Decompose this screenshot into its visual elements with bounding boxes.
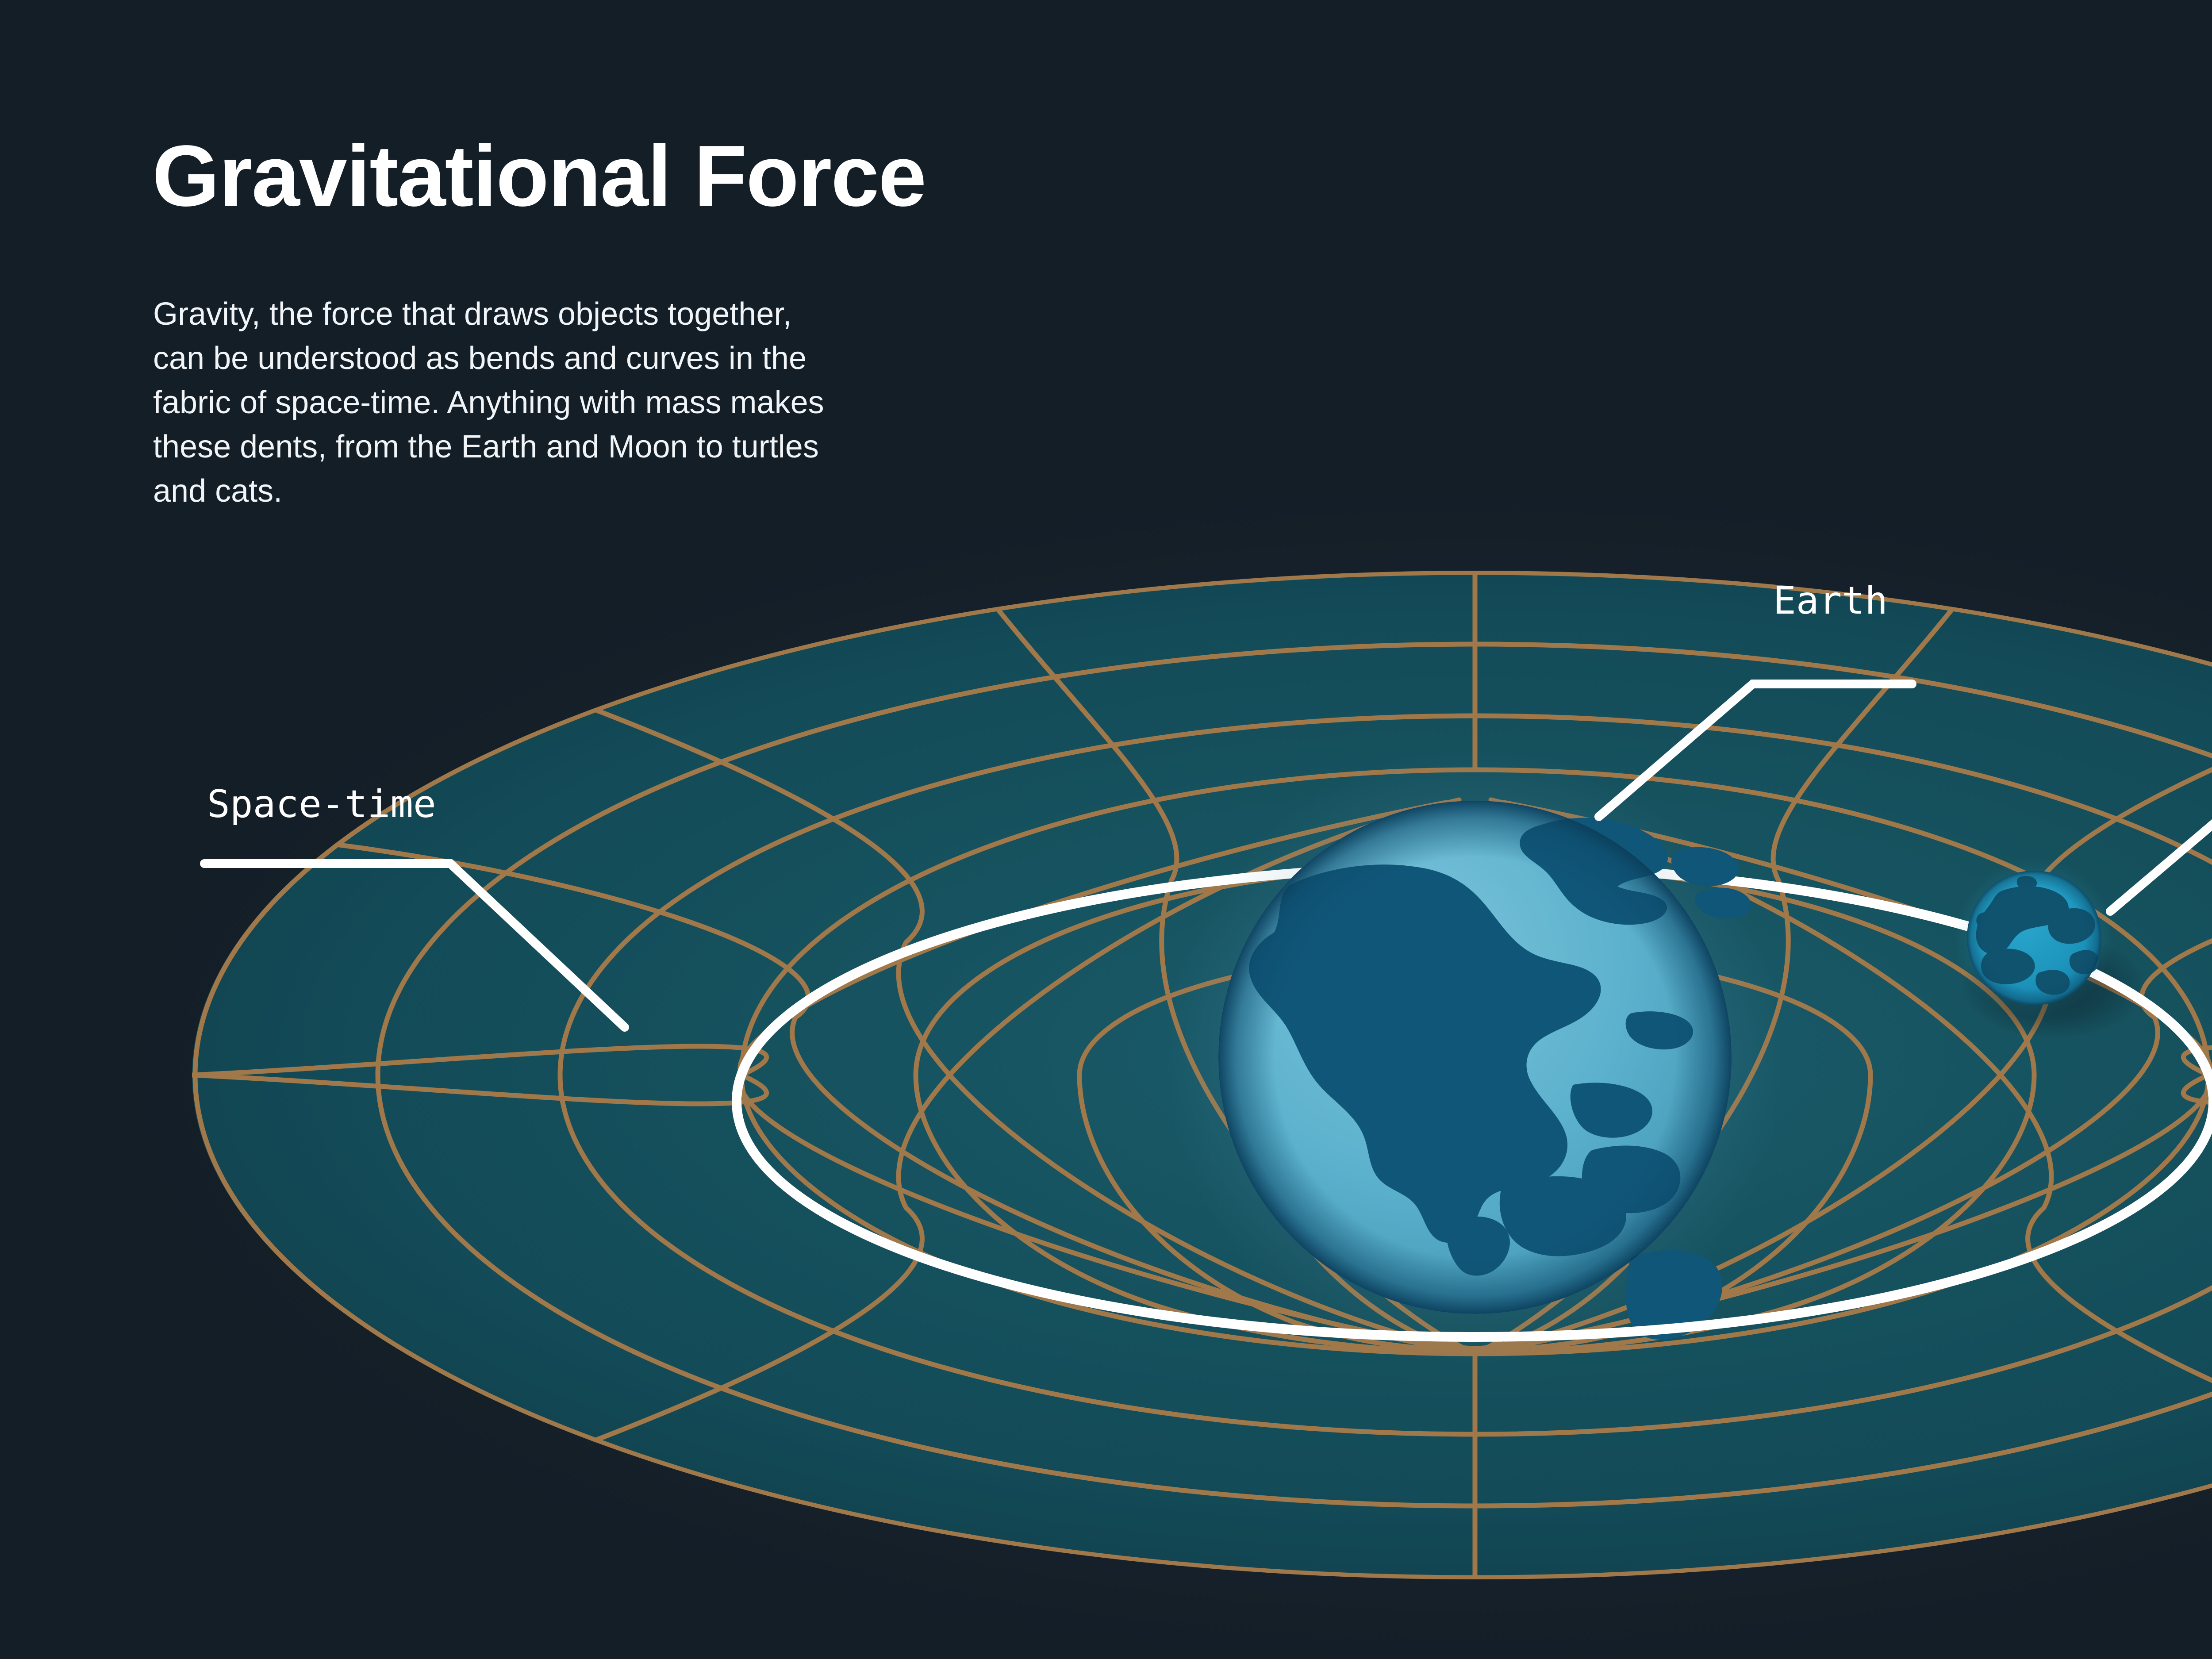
earth-globe [1165, 748, 1785, 1367]
moon-sphere [1967, 871, 2101, 1005]
illustration-canvas: Gravitational Force Gravity, the force t… [0, 0, 2212, 1659]
moon-globe [1955, 858, 2114, 1018]
space-time-fabric [0, 0, 2212, 1659]
